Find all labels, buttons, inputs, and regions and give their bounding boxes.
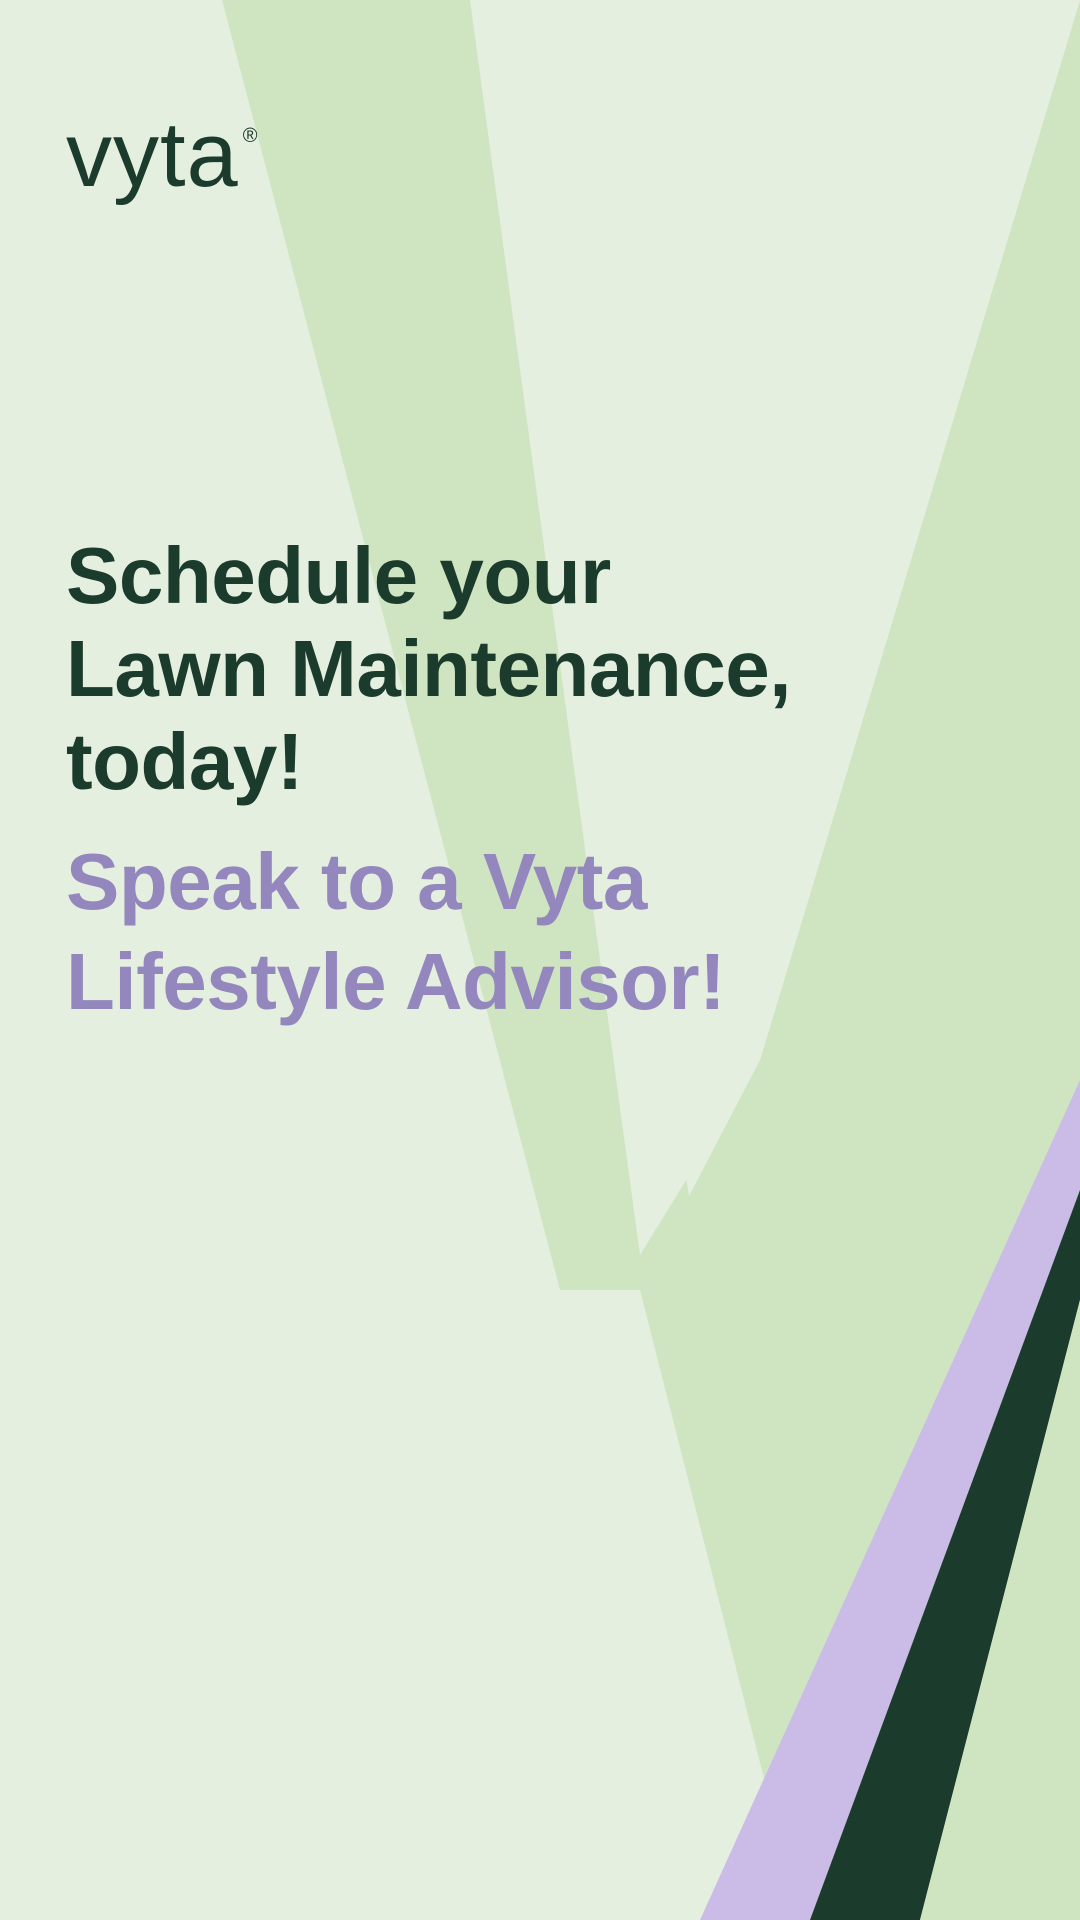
page-title: Schedule your Lawn Maintenance, today! bbox=[66, 530, 866, 808]
corner-stripe-lavender bbox=[700, 1080, 1080, 1920]
headline-line-3: today! bbox=[66, 716, 866, 809]
registered-trademark-icon: ® bbox=[243, 126, 258, 146]
headline-line-2: Lawn Maintenance, bbox=[66, 623, 866, 716]
copy-block: Schedule your Lawn Maintenance, today! S… bbox=[66, 530, 866, 1032]
brand-wordmark: vyta bbox=[66, 112, 239, 199]
headline-line-1: Schedule your bbox=[66, 530, 866, 623]
corner-stripe-light-green bbox=[920, 1300, 1080, 1920]
subheadline-line-2: Lifestyle Advisor! bbox=[66, 932, 866, 1032]
brand-logo: vyta ® bbox=[66, 112, 257, 199]
page-subtitle: Speak to a Vyta Lifestyle Advisor! bbox=[66, 808, 866, 1032]
promo-splash-screen: vyta ® Schedule your Lawn Maintenance, t… bbox=[0, 0, 1080, 1920]
subheadline-line-1: Speak to a Vyta bbox=[66, 832, 866, 932]
corner-stripe-dark-green bbox=[810, 1190, 1080, 1920]
